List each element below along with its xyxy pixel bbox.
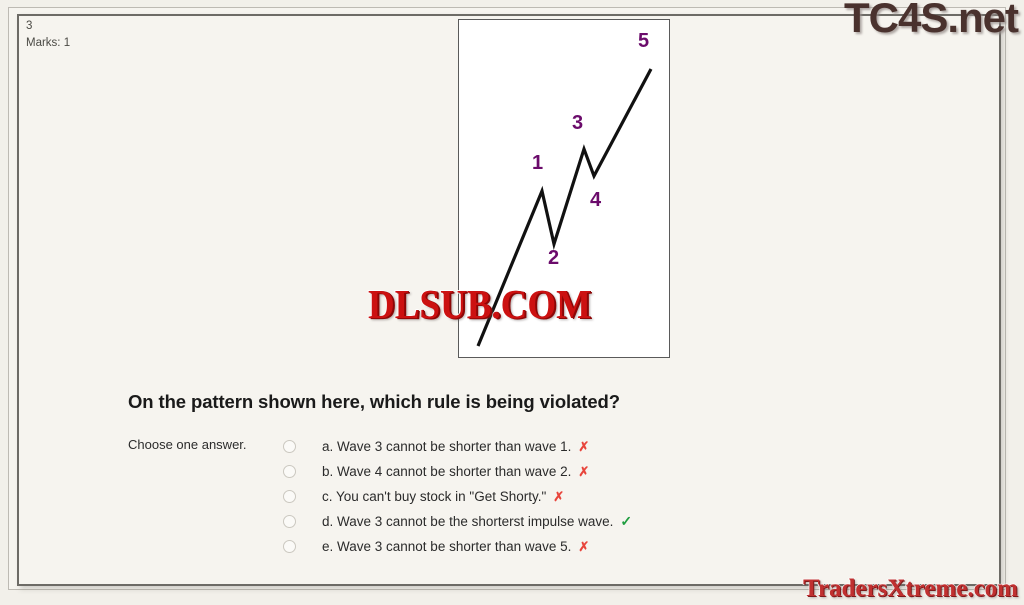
answer-label-a: a. Wave 3 cannot be shorter than wave 1. bbox=[322, 439, 571, 454]
answer-label-c: c. You can't buy stock in "Get Shorty." bbox=[322, 489, 546, 504]
answer-option-d[interactable]: d. Wave 3 cannot be the shorterst impuls… bbox=[283, 509, 843, 534]
question-meta: 3 Marks: 1 bbox=[26, 18, 226, 52]
watermark-tc4s: TC4S.net bbox=[844, 0, 1018, 42]
screenshot-root: 3 Marks: 1 1 2 3 4 5 On the pattern show… bbox=[0, 0, 1024, 605]
page-title: On the pattern shown here, which rule is… bbox=[128, 391, 620, 413]
question-number: 3 bbox=[26, 18, 226, 35]
wave-label-2: 2 bbox=[548, 248, 559, 268]
watermark-dlsub: DLSUB.COM bbox=[368, 281, 591, 329]
answer-option-c[interactable]: c. You can't buy stock in "Get Shorty." … bbox=[283, 484, 843, 509]
answer-option-b[interactable]: b. Wave 4 cannot be shorter than wave 2.… bbox=[283, 459, 843, 484]
incorrect-icon: ✗ bbox=[578, 539, 589, 555]
choose-one-answer-label: Choose one answer. bbox=[128, 437, 247, 452]
radio-button-d[interactable] bbox=[283, 515, 296, 528]
wave-label-1: 1 bbox=[532, 153, 543, 173]
wave-label-3: 3 bbox=[572, 113, 583, 133]
correct-icon: ✓ bbox=[620, 513, 632, 530]
answer-option-e[interactable]: e. Wave 3 cannot be shorter than wave 5.… bbox=[283, 534, 843, 559]
incorrect-icon: ✗ bbox=[553, 489, 564, 505]
incorrect-icon: ✗ bbox=[578, 439, 589, 455]
radio-button-a[interactable] bbox=[283, 440, 296, 453]
answer-label-b: b. Wave 4 cannot be shorter than wave 2. bbox=[322, 464, 571, 479]
incorrect-icon: ✗ bbox=[578, 464, 589, 480]
watermark-tradersxtreme: TradersXtreme.com bbox=[803, 575, 1018, 603]
answer-label-e: e. Wave 3 cannot be shorter than wave 5. bbox=[322, 539, 571, 554]
answer-label-d: d. Wave 3 cannot be the shorterst impuls… bbox=[322, 514, 613, 529]
radio-button-e[interactable] bbox=[283, 540, 296, 553]
answer-options-list: a. Wave 3 cannot be shorter than wave 1.… bbox=[283, 434, 843, 559]
wave-label-4: 4 bbox=[590, 190, 601, 210]
radio-button-b[interactable] bbox=[283, 465, 296, 478]
answer-option-a[interactable]: a. Wave 3 cannot be shorter than wave 1.… bbox=[283, 434, 843, 459]
watermark-dlsub-text: DLSUB.COM bbox=[368, 281, 591, 329]
radio-button-c[interactable] bbox=[283, 490, 296, 503]
wave-label-5: 5 bbox=[638, 31, 649, 51]
question-marks: Marks: 1 bbox=[26, 35, 226, 52]
